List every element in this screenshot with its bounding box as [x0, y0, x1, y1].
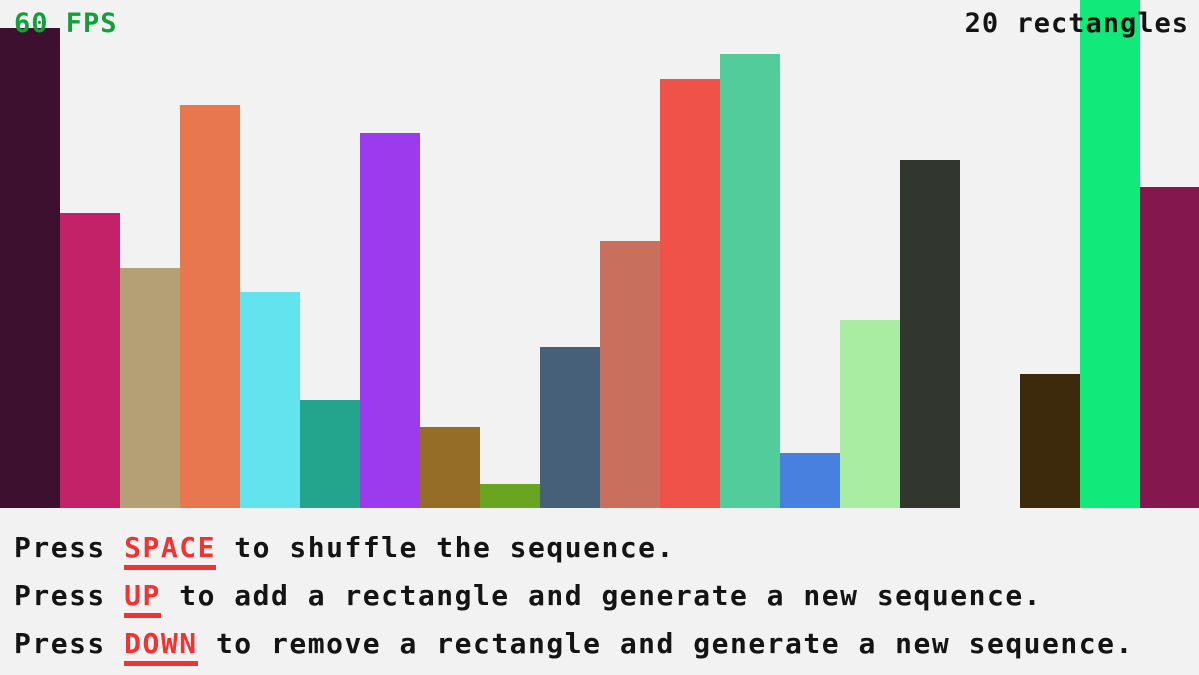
instruction-prefix: Press — [14, 531, 124, 564]
bar-rectangle — [900, 160, 960, 508]
bar-rectangle — [480, 484, 540, 508]
bar-rectangle — [60, 213, 120, 508]
bar-rectangle — [840, 320, 900, 508]
key-hint-down[interactable]: DOWN — [124, 627, 197, 666]
key-hint-up[interactable]: UP — [124, 579, 161, 618]
instructions-panel: Press SPACE to shuffle the sequence.Pres… — [0, 508, 1199, 675]
instruction-suffix: to add a rectangle and generate a new se… — [161, 579, 1042, 612]
instruction-suffix: to remove a rectangle and generate a new… — [198, 627, 1134, 660]
bar-rectangle — [540, 347, 600, 508]
bar-rectangle — [120, 268, 180, 508]
key-hint-space[interactable]: SPACE — [124, 531, 216, 570]
instruction-suffix: to shuffle the sequence. — [216, 531, 675, 564]
rectangle-visualizer-app: 60 FPS 20 rectangles Press SPACE to shuf… — [0, 0, 1199, 675]
instruction-line: Press SPACE to shuffle the sequence. — [14, 524, 1199, 572]
instruction-line: Press UP to add a rectangle and generate… — [14, 572, 1199, 620]
instruction-prefix: Press — [14, 627, 124, 660]
bar-rectangle — [780, 453, 840, 508]
bar-rectangle — [1140, 187, 1199, 508]
bar-chart — [0, 0, 1199, 508]
bar-rectangle — [240, 292, 300, 508]
instruction-prefix: Press — [14, 579, 124, 612]
rectangle-count-label: 20 rectangles — [965, 10, 1189, 37]
bar-rectangle — [300, 400, 360, 508]
bar-rectangle — [420, 427, 480, 508]
bar-rectangle — [1080, 0, 1140, 508]
bar-rectangle — [180, 105, 240, 508]
bar-rectangle — [360, 133, 420, 508]
bar-rectangle — [660, 79, 720, 508]
bar-rectangle — [600, 241, 660, 508]
fps-counter: 60 FPS — [14, 10, 118, 37]
bar-rectangle — [1020, 374, 1080, 508]
bar-rectangle — [720, 54, 780, 508]
instruction-line: Press DOWN to remove a rectangle and gen… — [14, 620, 1199, 668]
bar-rectangle — [0, 28, 60, 508]
